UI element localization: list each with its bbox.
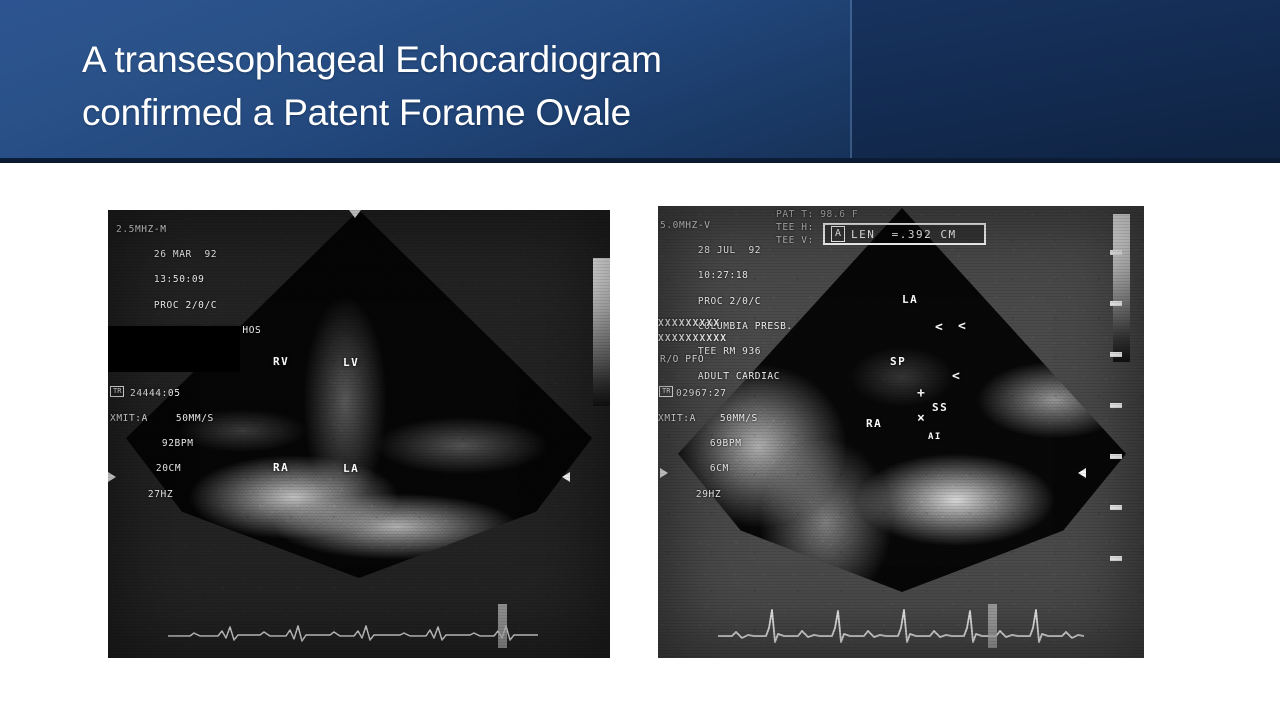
left-footer-line-2: XMIT:A — [110, 413, 148, 424]
right-arrow-marker-1: < — [935, 320, 943, 335]
right-arrow-marker-3: < — [952, 369, 960, 384]
right-arrow-marker-2: < — [958, 319, 966, 334]
right-depth-tick-7 — [1110, 556, 1122, 561]
right-header-text: 5.0MHZ-V 28 JUL 92 10:27:18 PROC 2/0/C C… — [660, 220, 793, 396]
right-depth-tick-3 — [1110, 352, 1122, 357]
measurement-key: A — [831, 226, 845, 242]
left-header-line-0: 2.5MHZ-M — [116, 224, 167, 235]
right-edge-marker-right — [1078, 468, 1086, 478]
right-header-line-6: ADULT CARDIAC — [698, 371, 780, 382]
right-header-line-indication: R/O PFO — [660, 354, 704, 367]
left-footer-line-0: 24444:05 — [130, 388, 181, 399]
right-grayscale-bar — [1113, 214, 1130, 362]
right-footer-line-3: 69BPM — [696, 438, 742, 449]
right-footer-line-2: XMIT:A — [658, 413, 696, 424]
left-ecg-marker — [498, 604, 507, 648]
right-label-la: LA — [902, 293, 918, 306]
right-label-ss: SS — [932, 401, 948, 414]
measurement-value: LEN =.392 CM — [851, 228, 957, 241]
right-label-ai: AI — [928, 432, 942, 442]
right-tee-v: TEE V: — [776, 235, 814, 248]
right-header-line-3: PROC 2/0/C — [698, 296, 761, 307]
right-header-line-2: 10:27:18 — [698, 270, 749, 281]
right-footer-line-5: 29HZ — [696, 489, 721, 500]
measurement-readout-box: A LEN =.392 CM — [823, 223, 986, 245]
left-header-line-2: 13:50:09 — [154, 274, 205, 285]
right-redacted-line-1: XXXXXXXXX — [658, 318, 720, 331]
left-footer-badge: TR — [110, 386, 124, 397]
right-footer-text-2: XMIT:A 69BPM 6CM 29HZ — [658, 413, 742, 514]
right-ecg-marker — [988, 604, 997, 648]
left-footer-text-2: XMIT:A 92BPM 20CM 27HZ — [110, 413, 194, 514]
right-label-ra: RA — [866, 417, 882, 430]
left-apex-marker — [349, 210, 361, 218]
right-footer-badge: TR — [659, 386, 673, 397]
ultrasound-image-right: 5.0MHZ-V 28 JUL 92 10:27:18 PROC 2/0/C C… — [658, 206, 1144, 658]
right-redacted-line-2: XXXXXXXXXX — [658, 333, 727, 346]
left-label-rv: RV — [273, 355, 289, 368]
left-label-la: LA — [343, 462, 359, 475]
right-tee-h: TEE H: — [776, 222, 814, 235]
right-depth-tick-4 — [1110, 403, 1122, 408]
left-redaction-block — [108, 326, 240, 372]
slide-root: A transesophageal Echocardiogram confirm… — [0, 0, 1280, 720]
right-depth-tick-5 — [1110, 454, 1122, 459]
title-header-band: A transesophageal Echocardiogram confirm… — [0, 0, 1280, 163]
left-header-line-3: PROC 2/0/C — [154, 300, 217, 311]
right-caliper-plus: + — [917, 386, 925, 401]
right-caliper-cross: × — [917, 411, 925, 426]
left-footer-line-5: 27HZ — [148, 489, 173, 500]
right-header-line-5: TEE RM 936 — [698, 346, 761, 357]
left-header-line-1: 26 MAR 92 — [154, 249, 217, 260]
header-bottom-edge — [0, 158, 1280, 163]
right-depth-tick-1 — [1110, 250, 1122, 255]
right-header-line-0: 5.0MHZ-V — [660, 220, 711, 231]
left-grayscale-bar — [593, 258, 610, 406]
left-ecg-trace — [108, 602, 610, 658]
right-ecg-trace — [658, 598, 1144, 658]
left-label-lv: LV — [343, 356, 359, 369]
right-footer-line-0: 02967:27 — [676, 388, 727, 399]
left-footer-line-3: 92BPM — [148, 438, 194, 449]
right-patient-temp: PAT T: 98.6 F — [776, 209, 858, 222]
right-depth-tick-6 — [1110, 505, 1122, 510]
left-label-ra: RA — [273, 461, 289, 474]
right-depth-tick-2 — [1110, 301, 1122, 306]
page-title: A transesophageal Echocardiogram confirm… — [82, 34, 842, 139]
left-footer-line-4: 20CM — [148, 463, 181, 474]
right-label-sp: SP — [890, 355, 906, 368]
left-edge-marker-right — [562, 472, 570, 482]
right-header-line-1: 28 JUL 92 — [698, 245, 761, 256]
ultrasound-image-left: 2.5MHZ-M 26 MAR 92 13:50:09 PROC 2/0/C C… — [108, 210, 610, 658]
title-line-1: A transesophageal Echocardiogram — [82, 34, 842, 87]
title-line-2: confirmed a Patent Forame Ovale — [82, 87, 842, 140]
right-footer-line-4: 6CM — [696, 463, 729, 474]
